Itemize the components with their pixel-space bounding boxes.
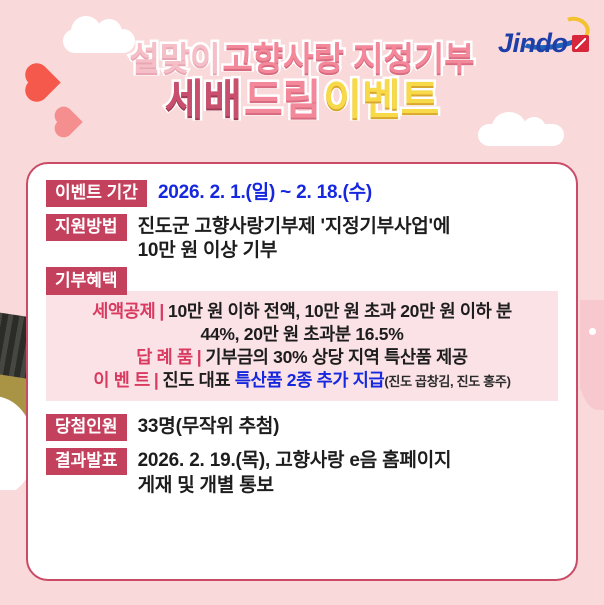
row-how-to-apply: 지원방법 진도군 고향사랑기부제 '지정기부사업'에 10만 원 이상 기부 (46, 214, 558, 264)
benefit-line-gift: 답 례 품 | 기부금의 30% 상당 지역 특산품 제공 (56, 346, 548, 369)
text-result-line2: 게재 및 개별 통보 (138, 474, 558, 498)
benefit-body-tax-deduction: 10만 원 이하 전액, 10만 원 초과 20만 원 이하 분 (168, 300, 512, 323)
row-event-period: 이벤트 기간 2026. 2. 1.(일) ~ 2. 18.(수) (46, 180, 558, 207)
title-line-2: 세배드림이벤트 (0, 79, 604, 121)
benefit-separator-3: | (154, 369, 159, 392)
right-figure-body (580, 300, 604, 410)
right-character-illustration (580, 300, 604, 475)
poster-title: 설맞이고향사랑 지정기부 세배드림이벤트 (0, 42, 604, 121)
title-part-seolmaji: 설맞이 (128, 42, 221, 75)
title-part-event: 이벤트 (322, 79, 440, 121)
benefit-label-gift: 답 례 품 (136, 346, 193, 369)
benefit-line-tax-deduction: 세액공제 | 10만 원 이하 전액, 10만 원 초과 20만 원 이하 분 (56, 300, 548, 323)
benefit-label-tax-deduction: 세액공제 (92, 300, 155, 323)
benefit-separator-2: | (197, 346, 202, 369)
text-winner-count: 33명(무작위 추첨) (138, 414, 558, 439)
text-event-period: 2026. 2. 1.(일) ~ 2. 18.(수) (158, 180, 558, 205)
badge-benefits: 기부혜택 (46, 267, 127, 295)
benefit-tax-line2: 44%, 20만 원 초과분 16.5% (201, 323, 404, 346)
title-line-1: 설맞이고향사랑 지정기부 (0, 42, 604, 75)
title-part-gohyangsarang: 고향사랑 지정기부 (222, 42, 476, 75)
benefit-event-highlight: 특산품 2종 추가 지급 (235, 370, 385, 390)
text-result-announcement: 2026. 2. 19.(목), 고향사랑 e음 홈페이지 게재 및 개별 통보 (138, 448, 558, 498)
poster-root: Jindo 설맞이고향사랑 지정기부 세배드림이벤트 이벤트 기간 2026. … (0, 0, 604, 605)
benefit-line-event: 이 벤 트 | 진도 대표 특산품 2종 추가 지급(진도 곱창김, 진도 홍주… (56, 369, 548, 392)
benefit-event-prefix: 진도 대표 (163, 370, 235, 390)
badge-result-announcement: 결과발표 (46, 448, 127, 475)
title-part-sebae: 세배 (164, 79, 243, 121)
benefit-tax-line1: 10만 원 이하 전액, 10만 원 초과 20만 원 이하 분 (168, 301, 512, 321)
benefit-body-gift: 기부금의 30% 상당 지역 특산품 제공 (205, 346, 467, 369)
row-result-announcement: 결과발표 2026. 2. 19.(목), 고향사랑 e음 홈페이지 게재 및 … (46, 448, 558, 498)
row-winner-count: 당첨인원 33명(무작위 추첨) (46, 414, 558, 441)
badge-event-period: 이벤트 기간 (46, 180, 147, 207)
badge-winner-count: 당첨인원 (46, 414, 127, 441)
text-result-line1: 2026. 2. 19.(목), 고향사랑 e음 홈페이지 (138, 449, 558, 473)
benefit-label-event: 이 벤 트 (93, 369, 150, 392)
benefit-separator-1: | (159, 300, 164, 323)
title-part-deurim: 드림 (243, 79, 322, 121)
text-how-to-apply-line2: 10만 원 이상 기부 (138, 239, 558, 263)
info-card: 이벤트 기간 2026. 2. 1.(일) ~ 2. 18.(수) 지원방법 진… (26, 162, 578, 581)
cloud-decoration-right (478, 124, 564, 146)
benefits-panel: 세액공제 | 10만 원 이하 전액, 10만 원 초과 20만 원 이하 분 … (46, 291, 558, 401)
benefit-event-note: (진도 곱창김, 진도 홍주) (384, 374, 510, 389)
text-how-to-apply-line1: 진도군 고향사랑기부제 '지정기부사업'에 (138, 215, 558, 239)
benefit-line-tax-deduction-cont: 44%, 20만 원 초과분 16.5% (56, 323, 548, 346)
badge-how-to-apply: 지원방법 (46, 214, 127, 241)
bottom-rows: 당첨인원 33명(무작위 추첨) 결과발표 2026. 2. 19.(목), 고… (46, 414, 558, 497)
benefit-body-event: 진도 대표 특산품 2종 추가 지급(진도 곱창김, 진도 홍주) (163, 369, 511, 392)
right-figure-highlight (589, 328, 596, 335)
text-how-to-apply: 진도군 고향사랑기부제 '지정기부사업'에 10만 원 이상 기부 (138, 214, 558, 264)
row-benefits-header: 기부혜택 (46, 272, 558, 291)
